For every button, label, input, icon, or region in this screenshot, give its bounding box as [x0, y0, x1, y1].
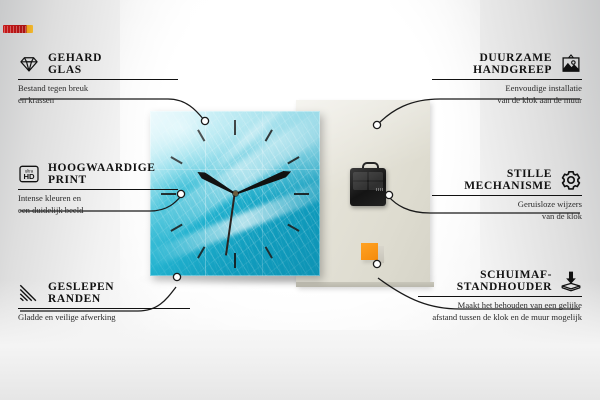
callout-rule	[18, 189, 178, 190]
back-panel-edge	[296, 282, 434, 287]
callout-duurzame-handgreep[interactable]: DUURZAME HANDGREEP Eenvoudige installati…	[432, 52, 582, 107]
callout-description: Gladde en veilige afwerking	[18, 312, 190, 324]
diamond-icon	[18, 53, 40, 75]
callout-title-line1: GEHARD	[48, 52, 102, 64]
callout-title: DUURZAME HANDGREEP	[473, 52, 552, 76]
callout-title-line2: GLAS	[48, 64, 102, 76]
callout-description: Eenvoudige installatie van de klok aan d…	[432, 83, 582, 107]
callout-title: HOOGWAARDIGE PRINT	[48, 162, 156, 186]
foam-spacer-pad	[361, 243, 378, 260]
callout-title: STILLE MECHANISME	[464, 168, 552, 192]
callout-geslepen-randen[interactable]: GESLEPEN RANDEN Gladde en veilige afwerk…	[18, 281, 190, 324]
picture-frame-icon	[560, 53, 582, 75]
callout-title-line1: STILLE	[507, 168, 552, 180]
callout-title: SCHUIMAF- STANDHOUDER	[457, 269, 552, 293]
foam-pad-side	[378, 246, 384, 263]
callout-title-line1: SCHUIMAF-	[480, 269, 552, 281]
callout-rule	[18, 308, 190, 309]
callout-rule	[418, 296, 582, 297]
callout-title-line1: HOOGWAARDIGE	[48, 162, 156, 174]
ultra-hd-icon: ultra HD	[18, 163, 40, 185]
callout-schuimafstandhouder[interactable]: SCHUIMAF- STANDHOUDER Maakt het behouden…	[418, 269, 582, 324]
callout-title-line2: HANDGREEP	[473, 64, 552, 76]
svg-text:HD: HD	[23, 172, 35, 181]
mechanism-markings	[376, 188, 383, 191]
callout-title-line1: DUURZAME	[479, 52, 552, 64]
callout-title-line2: RANDEN	[48, 293, 114, 305]
mechanism-label-text	[4, 26, 28, 33]
callout-title: GEHARD GLAS	[48, 52, 102, 76]
callout-hoogwaardige-print[interactable]: ultra HD HOOGWAARDIGE PRINT Intense kleu…	[18, 162, 178, 217]
callout-title-line2: MECHANISME	[464, 180, 552, 192]
callout-gehard-glas[interactable]: GEHARD GLAS Bestand tegen breuk en krass…	[18, 52, 178, 107]
callout-title-line2: PRINT	[48, 174, 156, 186]
hatch-lines-icon	[18, 282, 40, 304]
callout-description: Intense kleuren en een duidelijk beeld	[18, 193, 178, 217]
press-down-pad-icon	[560, 270, 582, 292]
callout-description: Geruisloze wijzers van de klok	[432, 199, 582, 223]
callout-description: Maakt het behouden van een gelijke afsta…	[418, 300, 582, 324]
callout-rule	[432, 79, 582, 80]
product-feature-infographic: GEHARD GLAS Bestand tegen breuk en krass…	[0, 0, 600, 400]
clock-mechanism	[350, 168, 386, 206]
callout-rule	[432, 195, 582, 196]
callout-title-line1: GESLEPEN	[48, 281, 114, 293]
callout-stille-mechanisme[interactable]: STILLE MECHANISME Geruisloze wijzers van…	[432, 168, 582, 223]
callout-description: Bestand tegen breuk en krassen	[18, 83, 178, 107]
callout-title-line2: STANDHOUDER	[457, 281, 552, 293]
callout-rule	[18, 79, 178, 80]
gear-icon	[560, 169, 582, 191]
callout-title: GESLEPEN RANDEN	[48, 281, 114, 305]
